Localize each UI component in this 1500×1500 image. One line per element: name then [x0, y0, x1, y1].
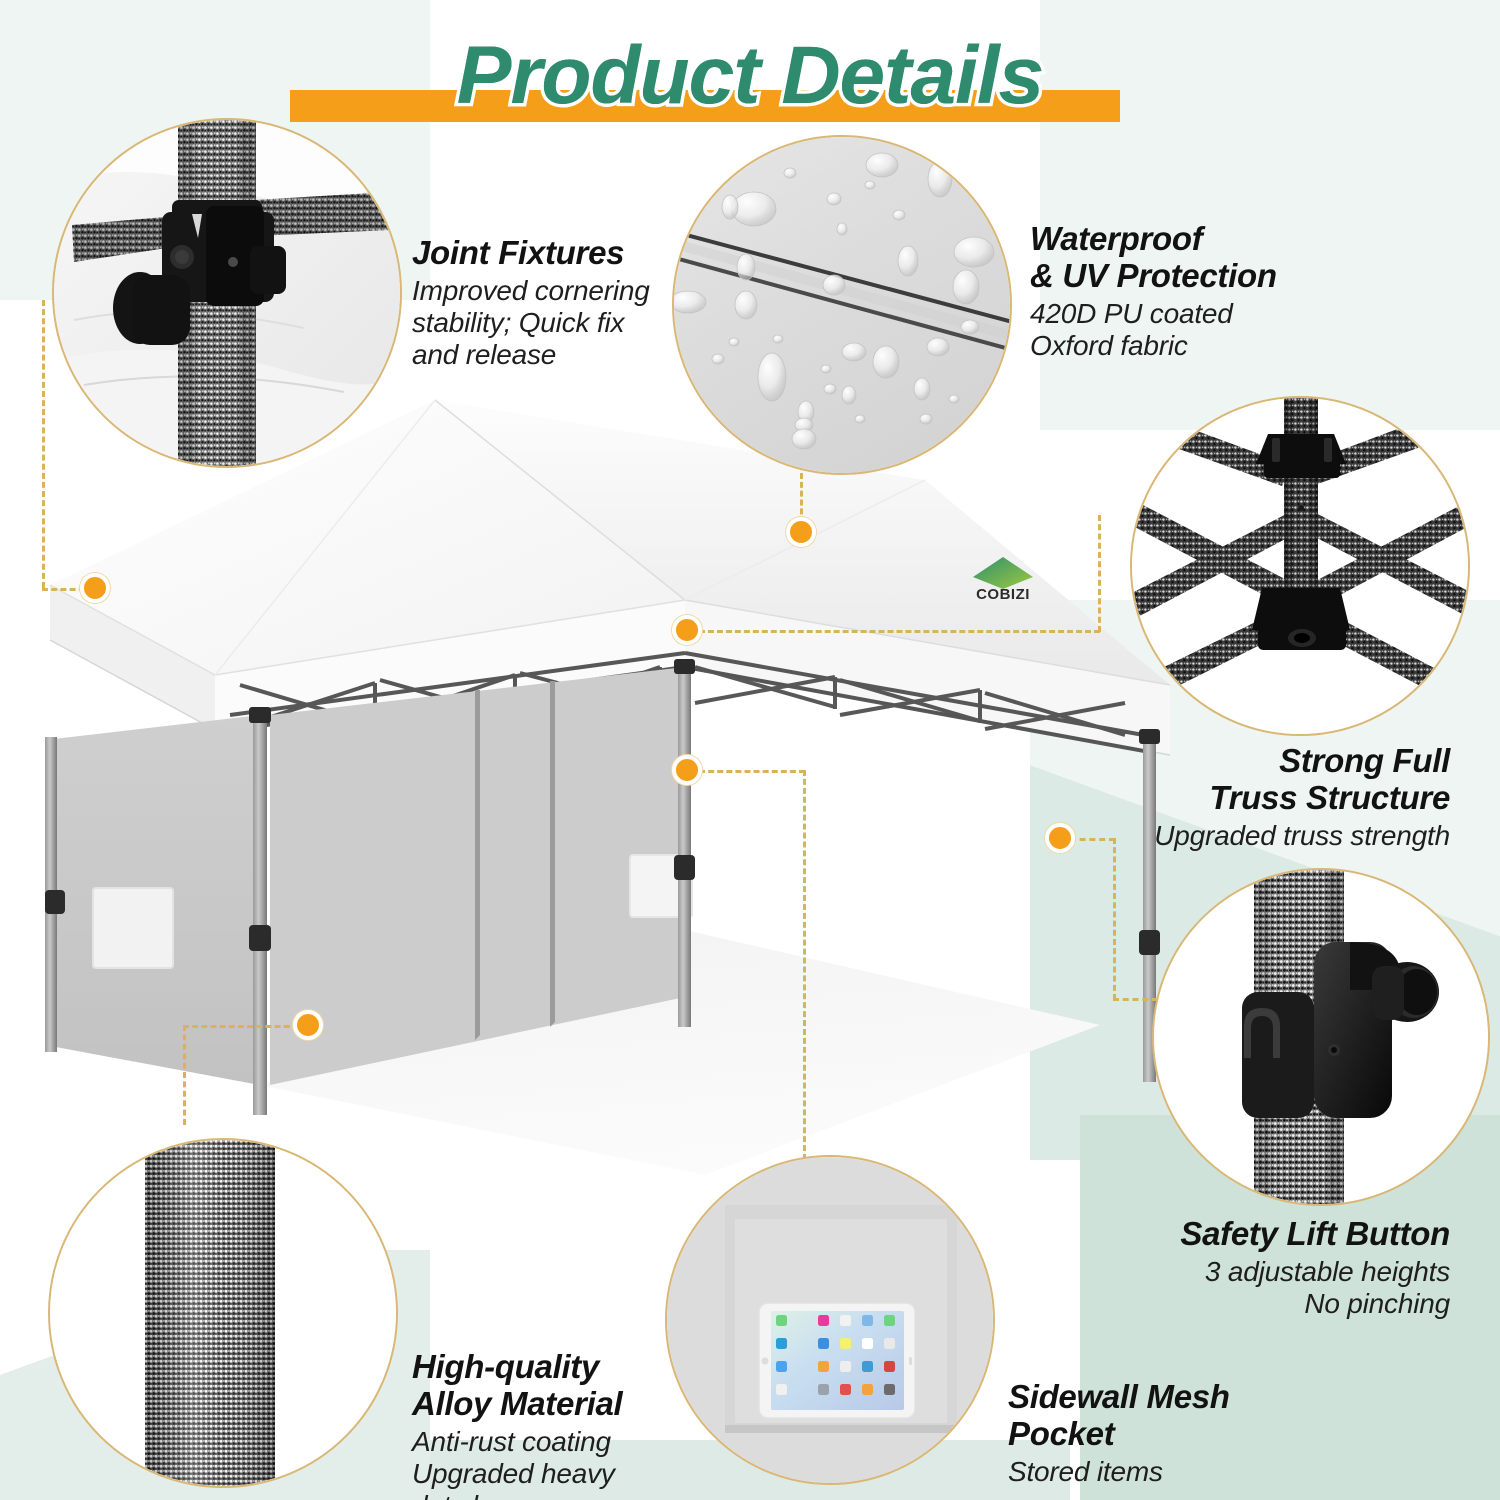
label-truss-heading: Strong Full Truss Structure [1060, 742, 1450, 816]
marker-waterproof [786, 517, 816, 547]
feature-image-joint-fixtures [52, 118, 402, 468]
label-safety-lift-button-heading: Safety Lift Button [1060, 1215, 1450, 1252]
marker-joint-fixtures [80, 573, 110, 603]
marker-mesh-pocket [672, 755, 702, 785]
label-joint-fixtures-heading: Joint Fixtures [412, 234, 682, 271]
feature-image-safety-lift-button [1152, 868, 1490, 1206]
label-joint-fixtures: Joint Fixtures Improved cornering stabil… [412, 234, 682, 371]
connector-safety-vertical [1113, 838, 1116, 1000]
label-safety-lift-button-body: 3 adjustable heights No pinching [1060, 1256, 1450, 1320]
connector-pocket-vertical [803, 770, 806, 1160]
connector-pocket-horizontal [690, 770, 805, 773]
connector-truss-horizontal [690, 630, 1100, 633]
label-safety-lift-button: Safety Lift Button 3 adjustable heights … [1060, 1215, 1450, 1320]
page-title: Product Details [0, 28, 1500, 124]
marker-truss [672, 615, 702, 645]
label-joint-fixtures-body: Improved cornering stability; Quick fix … [412, 275, 682, 371]
label-waterproof-body: 420D PU coated Oxford fabric [1030, 298, 1330, 362]
feature-image-waterproof [672, 135, 1012, 475]
label-mesh-pocket-body: Stored items [1008, 1456, 1298, 1488]
svg-text:COBIZI: COBIZI [976, 586, 1030, 603]
infographic-canvas: Product Details Product Details [0, 0, 1500, 1500]
connector-safety-horizontal-2 [1113, 998, 1158, 1001]
feature-image-truss [1130, 396, 1470, 736]
connector-joint-fixtures-vertical [42, 300, 45, 588]
marker-alloy [293, 1010, 323, 1040]
feature-image-mesh-pocket [665, 1155, 995, 1485]
connector-truss-vertical [1098, 515, 1101, 632]
connector-alloy-horizontal [183, 1025, 308, 1028]
page-title-block: Product Details Product Details [0, 18, 1500, 128]
label-mesh-pocket: Sidewall Mesh Pocket Stored items [1008, 1378, 1298, 1488]
label-waterproof-heading: Waterproof & UV Protection [1030, 220, 1330, 294]
label-alloy-material-body: Anti-rust coating Upgraded heavy duty le… [412, 1426, 712, 1500]
label-alloy-material-heading: High-quality Alloy Material [412, 1348, 712, 1422]
connector-alloy-vertical [183, 1025, 186, 1125]
label-waterproof: Waterproof & UV Protection 420D PU coate… [1030, 220, 1330, 362]
label-truss: Strong Full Truss Structure Upgraded tru… [1060, 742, 1450, 852]
label-mesh-pocket-heading: Sidewall Mesh Pocket [1008, 1378, 1298, 1452]
canopy-tent-illustration: COBIZI [45, 385, 1175, 1175]
feature-image-alloy-material [48, 1138, 398, 1488]
label-alloy-material: High-quality Alloy Material Anti-rust co… [412, 1348, 712, 1500]
label-truss-body: Upgraded truss strength [1060, 820, 1450, 852]
